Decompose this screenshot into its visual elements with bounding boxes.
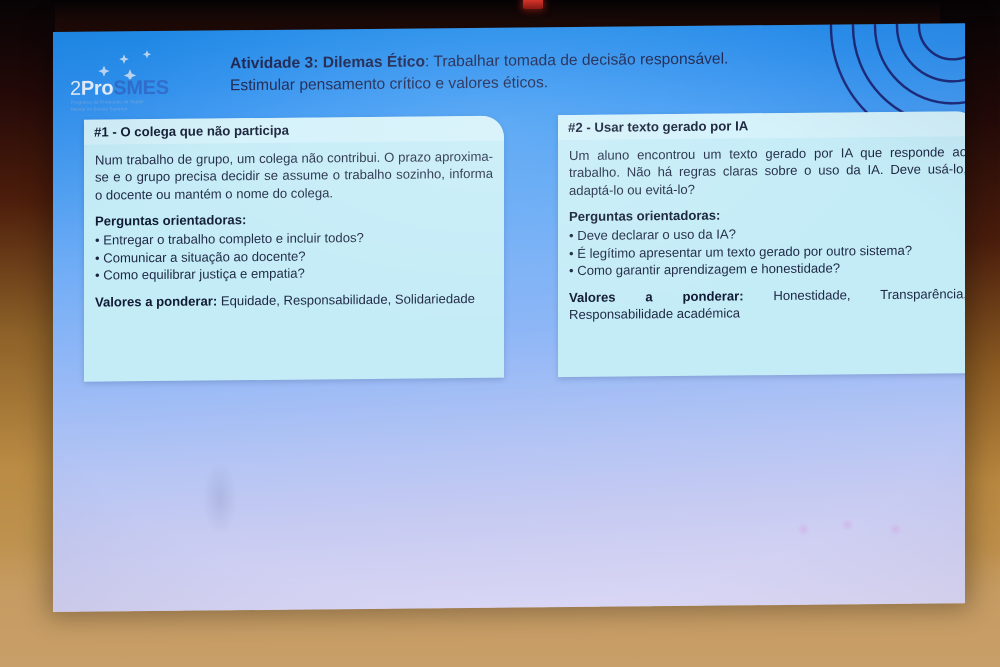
card-1-scenario: Num trabalho de grupo, um colega não con… [95,148,493,204]
projected-slide-photo: 2ProSMES Programa de Promoção da Saúde M… [0,0,1000,667]
logo-wordmark: 2ProSMES [70,78,169,99]
slide-sparkle-decor [797,516,927,543]
card-1-question-item: Como equilibrar justiça e empatia? [95,263,493,284]
card-1-values: Valores a ponderar: Equidade, Responsabi… [95,289,493,310]
slide-title: Atividade 3: Dilemas Ético: Trabalhar to… [230,47,870,97]
logo: 2ProSMES Programa de Promoção da Saúde M… [66,45,196,118]
card-2-question-item: Como garantir aprendizagem e honestidade… [569,258,965,279]
card-2-questions: Deve declarar o uso da IA? É legítimo ap… [569,223,965,279]
presentation-slide: 2ProSMES Programa de Promoção da Saúde M… [53,23,965,612]
card-2-heading: #2 - Usar texto gerado por IA [558,111,965,140]
dilemma-card-2: #2 - Usar texto gerado por IA Um aluno e… [558,111,965,377]
slide-title-strong: Atividade 3: Dilemas Ético [230,53,425,72]
logo-subtitle: Programa de Promoção da Saúde Mental no … [71,99,191,114]
projection-smudge [203,462,237,534]
card-2-values-label: Valores a ponderar: [569,288,744,305]
sparkle-icon [889,523,902,536]
card-1-body: Num trabalho de grupo, um colega não con… [84,141,504,319]
card-2-body: Um aluno encontrou um texto gerado por I… [558,136,965,332]
slide-title-line2: Estimular pensamento crítico e valores é… [230,69,870,97]
card-1-values-label: Valores a ponderar: [95,293,217,309]
logo-subtitle-line2: Mental no Ensino Superior [71,106,191,114]
logo-word-2: 2 [70,78,81,100]
sparkle-icon [797,523,810,536]
card-2-values: Valores a ponderar: Honestidade, Transpa… [569,285,965,324]
card-2-scenario: Um aluno encontrou um texto gerado por I… [569,143,965,199]
logo-word-pro: Pro [81,77,113,99]
logo-word-smes: SMES [113,77,168,100]
dilemma-cards: #1 - O colega que não participa Num trab… [84,111,965,382]
sparkle-icon [841,518,854,531]
slide-title-rest: : Trabalhar tomada de decisão responsáve… [425,51,728,71]
indicator-light-icon [523,0,543,9]
card-1-values-text: Equidade, Responsabilidade, Solidariedad… [221,291,475,308]
dilemma-card-1: #1 - O colega que não participa Num trab… [84,116,504,382]
card-1-questions: Entregar o trabalho completo e incluir t… [95,228,493,284]
sparkle-icon [90,45,170,80]
